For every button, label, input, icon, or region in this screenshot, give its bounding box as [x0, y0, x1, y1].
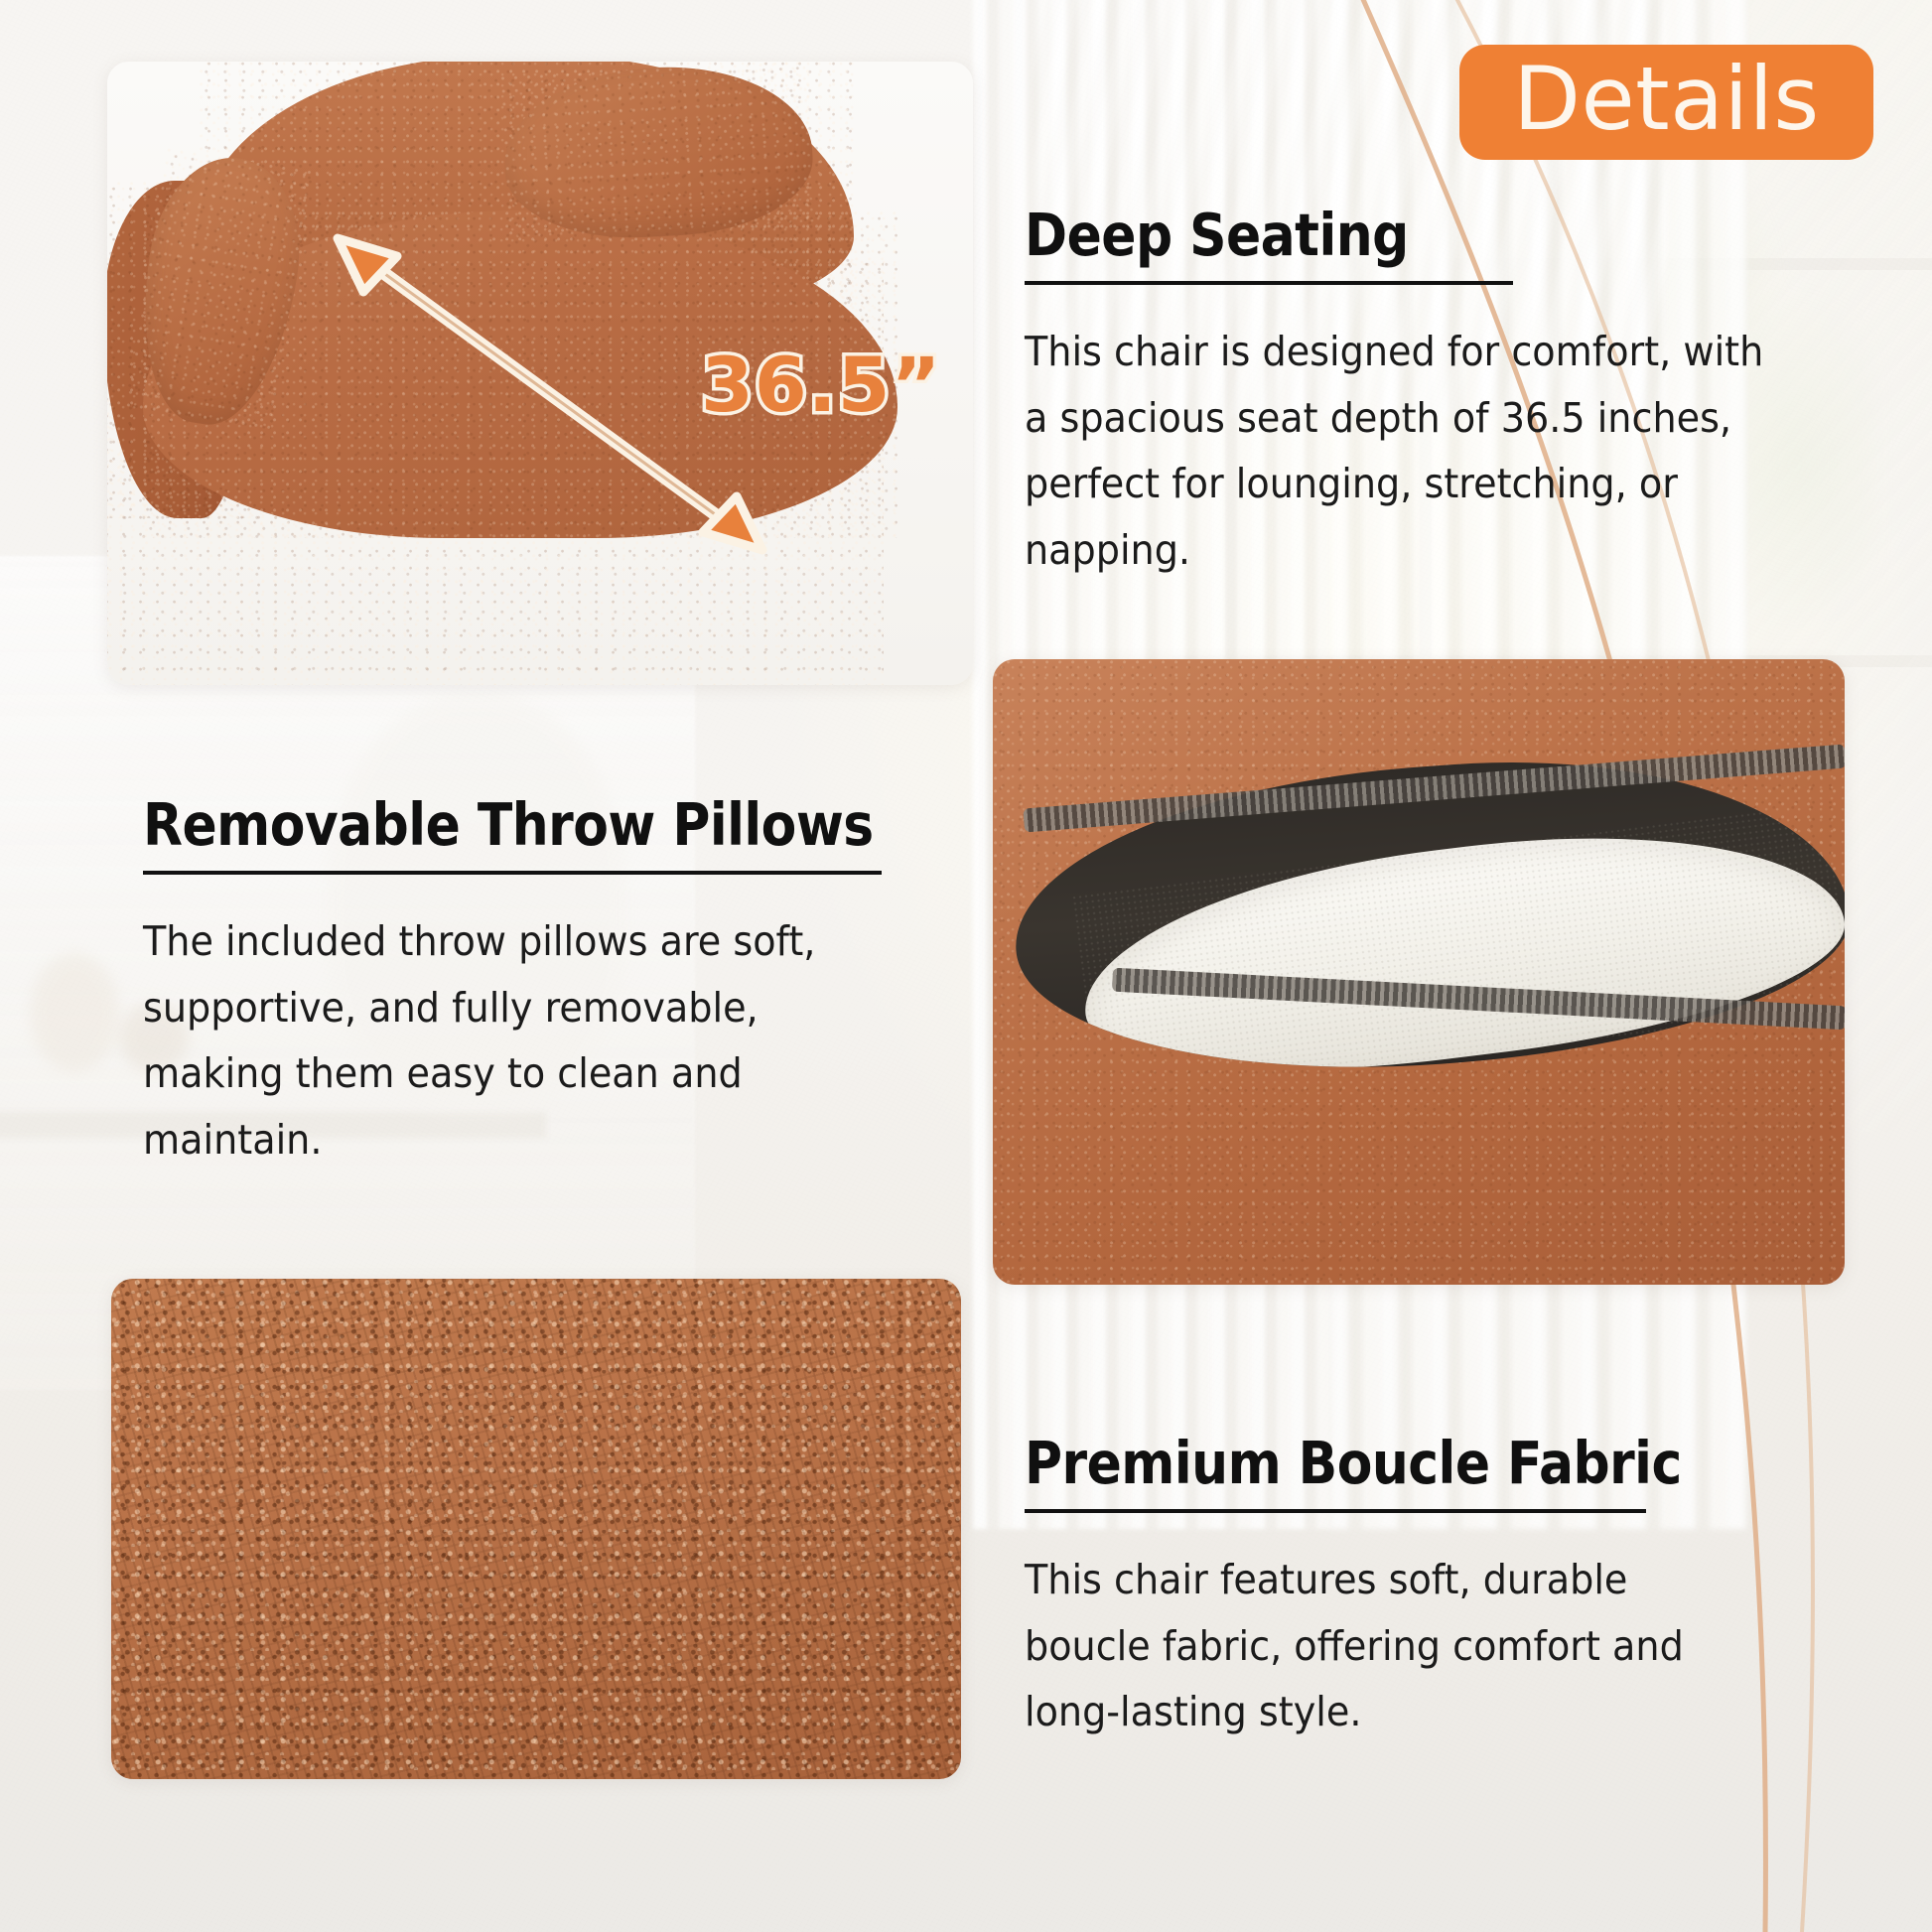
section-removable-throw-pillows: Removable Throw Pillows The included thr…: [143, 794, 897, 1173]
details-badge: Details: [1459, 45, 1873, 160]
section-body-premium-boucle-fabric: This chair features soft, durable boucle…: [1025, 1547, 1634, 1744]
section-heading-removable-throw-pillows: Removable Throw Pillows: [143, 794, 807, 855]
body-line: a spacious seat depth of 36.5 inches,: [1025, 385, 1505, 451]
fabric-swatch-weave-texture: [111, 1279, 961, 1779]
detail-infographic-page: Details 36.5”: [0, 0, 1932, 1932]
dimension-label: 36.5”: [701, 347, 941, 423]
boucle-fabric-swatch-photo: [111, 1279, 961, 1779]
section-premium-boucle-fabric: Premium Boucle Fabric This chair feature…: [1025, 1433, 1680, 1745]
body-line: maintain.: [143, 1107, 845, 1173]
body-line: The included throw pillows are soft,: [143, 908, 845, 974]
section-deep-seating: Deep Seating This chair is designed for …: [1025, 205, 1541, 583]
body-line: supportive, and fully removable,: [143, 975, 845, 1040]
removable-cover-zipper-photo: [993, 659, 1845, 1285]
body-line: This chair features soft, durable: [1025, 1547, 1634, 1612]
section-heading-premium-boucle-fabric: Premium Boucle Fabric: [1025, 1433, 1601, 1493]
details-badge-label: Details: [1513, 56, 1820, 149]
deep-seating-chair-photo: 36.5”: [107, 62, 973, 685]
section-body-deep-seating: This chair is designed for comfort, with…: [1025, 319, 1505, 583]
body-line: napping.: [1025, 517, 1505, 583]
body-line: perfect for lounging, stretching, or: [1025, 451, 1505, 516]
section-rule-deep-seating: [1025, 281, 1513, 285]
section-rule-removable-throw-pillows: [143, 871, 882, 875]
body-line: This chair is designed for comfort, with: [1025, 319, 1505, 384]
body-line: making them easy to clean and: [143, 1040, 845, 1106]
section-rule-premium-boucle-fabric: [1025, 1509, 1646, 1513]
body-line: boucle fabric, offering comfort and: [1025, 1613, 1634, 1679]
section-body-removable-throw-pillows: The included throw pillows are soft, sup…: [143, 908, 845, 1173]
body-line: long-lasting style.: [1025, 1679, 1634, 1744]
section-heading-deep-seating: Deep Seating: [1025, 205, 1479, 265]
